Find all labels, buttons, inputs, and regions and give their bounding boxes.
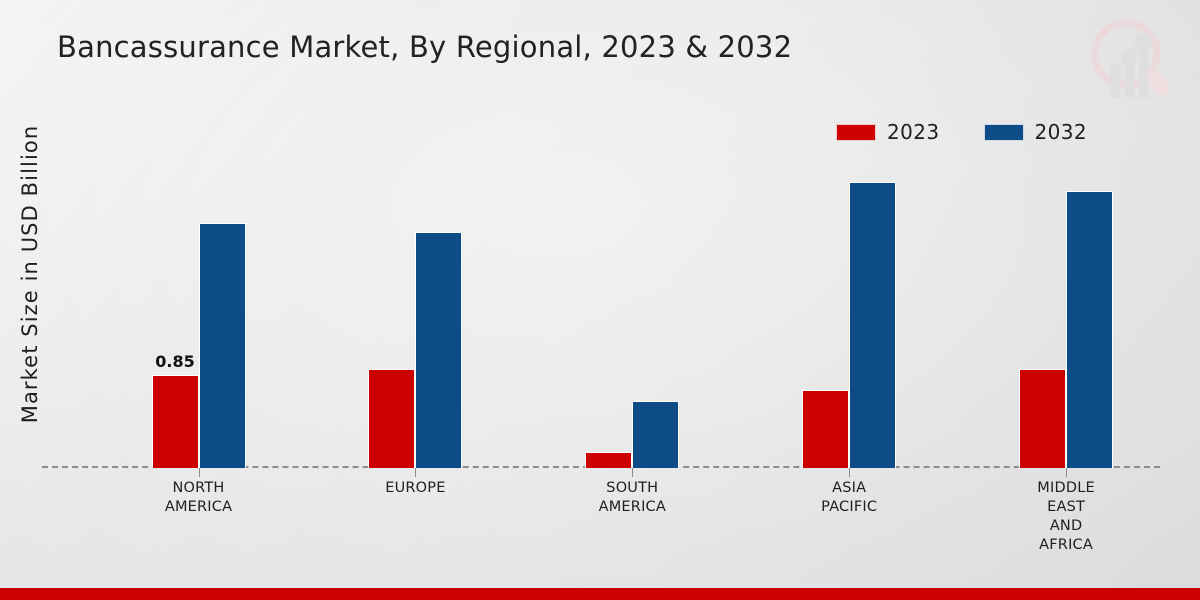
x-axis-tick: [632, 468, 633, 477]
bar-2032-middle-east-and-africa[interactable]: [1066, 191, 1113, 468]
legend-item-2023[interactable]: 2023: [836, 120, 940, 144]
bar-pair: [365, 150, 465, 468]
x-axis-category-label: ASIA PACIFIC: [821, 479, 877, 517]
bar-group: EUROPE: [365, 150, 465, 468]
bar-2023-south-america[interactable]: [585, 452, 632, 468]
bar-2032-asia-pacific[interactable]: [849, 182, 896, 468]
plot-area: 0.85NORTH AMERICAEUROPESOUTH AMERICAASIA…: [42, 150, 1160, 468]
bar-pair: 0.85: [149, 150, 249, 468]
legend-label-2032: 2032: [1035, 120, 1088, 144]
bar-pair: [1016, 150, 1116, 468]
footer-accent-bar: [0, 588, 1200, 600]
x-axis-category-label: SOUTH AMERICA: [599, 479, 666, 517]
x-axis-category-label: NORTH AMERICA: [165, 479, 232, 517]
bar-group: SOUTH AMERICA: [582, 150, 682, 468]
bar-2032-north-america[interactable]: [199, 223, 246, 468]
bar-2032-europe[interactable]: [415, 232, 462, 468]
x-axis-tick: [849, 468, 850, 477]
legend-swatch-2023: [836, 124, 876, 141]
bar-value-label: 0.85: [155, 352, 194, 371]
chart-page: Bancassurance Market, By Regional, 2023 …: [0, 0, 1200, 600]
market-research-future-logo-icon: [1078, 8, 1182, 108]
legend-swatch-2032: [984, 124, 1024, 141]
legend-item-2032[interactable]: 2032: [984, 120, 1088, 144]
bar-2023-middle-east-and-africa[interactable]: [1019, 369, 1066, 468]
chart-legend: 2023 2032: [836, 120, 1087, 144]
x-axis-category-label: EUROPE: [385, 479, 445, 498]
bar-2023-north-america[interactable]: 0.85: [152, 375, 199, 468]
bar-group: 0.85NORTH AMERICA: [149, 150, 249, 468]
bar-2023-europe[interactable]: [368, 369, 415, 468]
bar-pair: [799, 150, 899, 468]
bar-pair: [582, 150, 682, 468]
y-axis-title: Market Size in USD Billion: [18, 94, 42, 454]
x-axis-tick: [1066, 468, 1067, 477]
bar-group: MIDDLE EAST AND AFRICA: [1016, 150, 1116, 468]
x-axis-category-label: MIDDLE EAST AND AFRICA: [1037, 479, 1095, 555]
x-axis-tick: [415, 468, 416, 477]
legend-label-2023: 2023: [887, 120, 940, 144]
bar-2023-asia-pacific[interactable]: [802, 390, 849, 468]
x-axis-tick: [199, 468, 200, 477]
bar-group: ASIA PACIFIC: [799, 150, 899, 468]
chart-title: Bancassurance Market, By Regional, 2023 …: [57, 30, 792, 64]
bar-2032-south-america[interactable]: [632, 401, 679, 468]
